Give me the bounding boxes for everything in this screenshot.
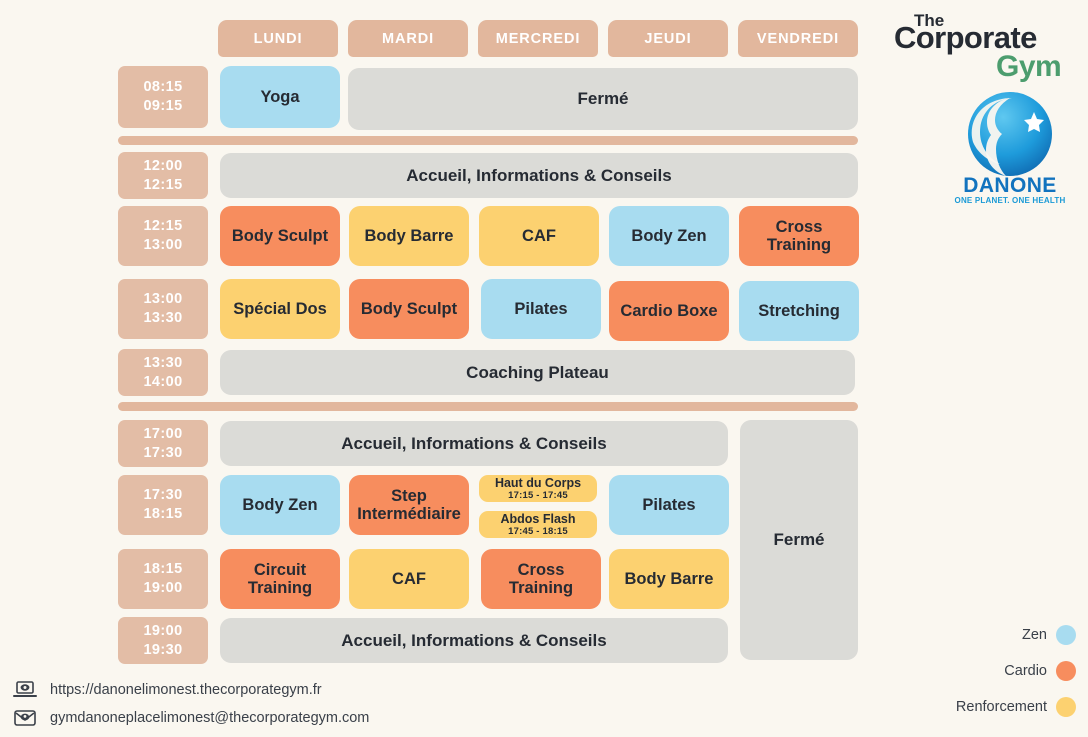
footer-email-row[interactable]: gymdanoneplacelimonest@thecorporategym.c… [12, 707, 369, 729]
legend-color-dot-cardio [1056, 661, 1076, 681]
class-cell-ferme-morning: Fermé [348, 68, 858, 130]
class-cell-caf-mardi-soir[interactable]: CAF [349, 549, 469, 609]
class-label: Abdos Flash [500, 512, 575, 527]
legend: Zen Cardio Renforcement [956, 625, 1076, 717]
legend-item-cardio: Cardio [1004, 661, 1076, 681]
class-cell-body-zen-lundi-soir[interactable]: Body Zen [220, 475, 340, 535]
class-cell-yoga[interactable]: Yoga [220, 66, 340, 128]
footer-contact: https://danonelimonest.thecorporategym.f… [12, 679, 369, 729]
time-label-1815-1900: 18:15 19:00 [118, 549, 208, 609]
legend-label: Cardio [1004, 663, 1047, 679]
class-cell-cross-training-vendredi[interactable]: Cross Training [739, 206, 859, 266]
class-label: Body Sculpt [232, 227, 328, 245]
day-header-jeudi: JEUDI [608, 20, 728, 57]
class-cell-body-zen-jeudi[interactable]: Body Zen [609, 206, 729, 266]
class-label: CAF [392, 570, 426, 588]
class-cell-circuit-training-lundi[interactable]: Circuit Training [220, 549, 340, 609]
day-header-label: LUNDI [254, 31, 303, 47]
class-label: CAF [522, 227, 556, 245]
section-divider-morning [118, 136, 858, 145]
time-start: 13:30 [143, 354, 182, 373]
class-label: Body Barre [625, 570, 714, 588]
class-cell-pilates-jeudi-soir[interactable]: Pilates [609, 475, 729, 535]
class-label: Pilates [642, 496, 695, 514]
class-label: Body Zen [242, 496, 317, 514]
corporate-gym-logo: The Corporate Gym [892, 6, 1080, 84]
time-end: 13:30 [143, 309, 182, 328]
schedule-page: LUNDI MARDI MERCREDI JEUDI VENDREDI 08:1… [0, 0, 1088, 737]
class-cell-stretching-vendredi[interactable]: Stretching [739, 281, 859, 341]
class-label: Step Intermédiaire [353, 487, 465, 524]
time-start: 17:00 [143, 425, 182, 444]
time-end: 18:15 [143, 505, 182, 524]
class-label: Accueil, Informations & Conseils [406, 166, 671, 185]
class-cell-body-sculpt-mardi[interactable]: Body Sculpt [349, 279, 469, 339]
day-header-lundi: LUNDI [218, 20, 338, 57]
time-start: 12:15 [143, 217, 182, 236]
class-cell-ferme-evening: Fermé [740, 420, 858, 660]
legend-item-zen: Zen [1022, 625, 1076, 645]
class-label: Fermé [577, 89, 628, 108]
class-label: Stretching [758, 302, 840, 320]
day-header-mercredi: MERCREDI [478, 20, 598, 57]
class-label: Accueil, Informations & Conseils [341, 631, 606, 650]
time-end: 14:00 [143, 373, 182, 392]
day-header-label: MERCREDI [496, 31, 581, 47]
class-cell-accueil-soir-2: Accueil, Informations & Conseils [220, 618, 728, 663]
time-label-1215-1300: 12:15 13:00 [118, 206, 208, 266]
class-label: Haut du Corps [495, 476, 581, 491]
danone-tagline: ONE PLANET. ONE HEALTH [955, 196, 1066, 205]
time-start: 12:00 [143, 157, 182, 176]
class-label: Body Barre [365, 227, 454, 245]
class-cell-special-dos-lundi[interactable]: Spécial Dos [220, 279, 340, 339]
footer-website-row[interactable]: https://danonelimonest.thecorporategym.f… [12, 679, 369, 701]
time-label-1300-1330: 13:00 13:30 [118, 279, 208, 339]
time-end: 13:00 [143, 236, 182, 255]
legend-color-dot-zen [1056, 625, 1076, 645]
section-divider-evening [118, 402, 858, 411]
class-cell-step-intermediaire-mardi[interactable]: Step Intermédiaire [349, 475, 469, 535]
class-label: Yoga [260, 88, 299, 106]
class-label: Body Sculpt [361, 300, 457, 318]
class-label: Pilates [514, 300, 567, 318]
class-cell-accueil-soir-1: Accueil, Informations & Conseils [220, 421, 728, 466]
legend-label: Renforcement [956, 699, 1047, 715]
class-cell-body-barre-mardi[interactable]: Body Barre [349, 206, 469, 266]
time-label-1330-1400: 13:30 14:00 [118, 349, 208, 396]
legend-label: Zen [1022, 627, 1047, 643]
time-start: 08:15 [143, 78, 182, 97]
footer-email-text[interactable]: gymdanoneplacelimonest@thecorporategym.c… [50, 710, 369, 726]
day-header-label: JEUDI [644, 31, 691, 47]
class-label: Cross Training [743, 218, 855, 255]
class-label: Spécial Dos [233, 300, 327, 318]
class-cell-accueil-midi: Accueil, Informations & Conseils [220, 153, 858, 198]
day-header-mardi: MARDI [348, 20, 468, 57]
time-end: 17:30 [143, 444, 182, 463]
footer-website-text[interactable]: https://danonelimonest.thecorporategym.f… [50, 682, 322, 698]
class-label: Fermé [773, 530, 824, 549]
logo-text-gym: Gym [996, 50, 1061, 83]
class-cell-cross-training-mercredi-soir[interactable]: Cross Training [481, 549, 601, 609]
day-header-row: LUNDI MARDI MERCREDI JEUDI VENDREDI [218, 20, 858, 57]
legend-color-dot-renforcement [1056, 697, 1076, 717]
day-header-label: VENDREDI [757, 31, 839, 47]
class-cell-haut-du-corps-mercredi[interactable]: Haut du Corps 17:15 - 17:45 [479, 475, 597, 502]
time-end: 19:30 [143, 641, 182, 660]
time-label-1900-1930: 19:00 19:30 [118, 617, 208, 664]
day-header-label: MARDI [382, 31, 434, 47]
class-cell-body-sculpt-lundi[interactable]: Body Sculpt [220, 206, 340, 266]
time-label-1730-1815: 17:30 18:15 [118, 475, 208, 535]
class-label: Coaching Plateau [466, 363, 609, 382]
time-start: 17:30 [143, 486, 182, 505]
time-label-1700-1730: 17:00 17:30 [118, 420, 208, 467]
class-time-range: 17:45 - 18:15 [508, 526, 568, 537]
class-cell-pilates-mercredi[interactable]: Pilates [481, 279, 601, 339]
day-header-vendredi: VENDREDI [738, 20, 858, 57]
class-cell-cardio-boxe-jeudi[interactable]: Cardio Boxe [609, 281, 729, 341]
time-end: 12:15 [143, 176, 182, 195]
time-end: 09:15 [143, 97, 182, 116]
class-cell-caf-mercredi[interactable]: CAF [479, 206, 599, 266]
time-label-1200-1215: 12:00 12:15 [118, 152, 208, 199]
class-cell-abdos-flash-mercredi[interactable]: Abdos Flash 17:45 - 18:15 [479, 511, 597, 538]
envelope-icon [12, 707, 38, 729]
danone-wordmark: DANONE [963, 174, 1056, 197]
legend-item-renforcement: Renforcement [956, 697, 1076, 717]
time-label-0815-0915: 08:15 09:15 [118, 66, 208, 128]
class-cell-body-barre-jeudi-soir[interactable]: Body Barre [609, 549, 729, 609]
time-end: 19:00 [143, 579, 182, 598]
class-label: Circuit Training [224, 561, 336, 598]
time-start: 13:00 [143, 290, 182, 309]
time-start: 18:15 [143, 560, 182, 579]
class-label: Cross Training [485, 561, 597, 598]
class-label: Cardio Boxe [620, 302, 717, 320]
class-label: Accueil, Informations & Conseils [341, 434, 606, 453]
danone-logo: DANONE ONE PLANET. ONE HEALTH [950, 88, 1070, 206]
class-time-range: 17:15 - 17:45 [508, 490, 568, 501]
laptop-icon [12, 679, 38, 701]
time-start: 19:00 [143, 622, 182, 641]
class-label: Body Zen [631, 227, 706, 245]
class-cell-coaching-plateau: Coaching Plateau [220, 350, 855, 395]
